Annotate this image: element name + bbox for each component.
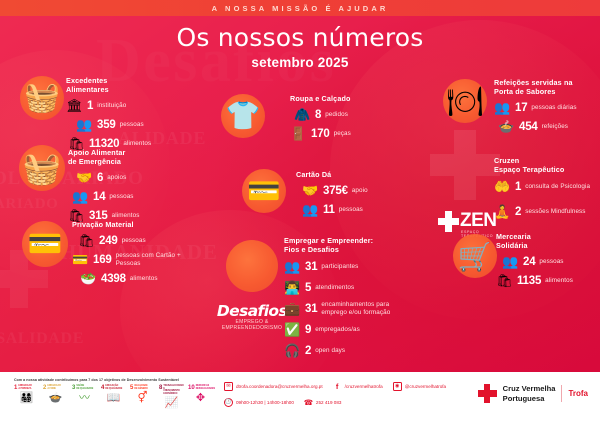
stat-value: 31 <box>305 261 317 273</box>
stat-unit: peças <box>334 130 351 138</box>
stat-row: 👥 24 pessoas <box>496 253 600 270</box>
grocery-bag-heart-icon: 🛒 <box>458 243 493 271</box>
stat-value: 375€ <box>323 185 348 197</box>
stat-unit: pedidos <box>325 111 348 119</box>
participants-icon: 👥 <box>284 258 301 275</box>
hanger-icon: 🧥 <box>294 106 311 123</box>
stat-value: 1 <box>87 100 93 112</box>
clothing-icon: 👕 <box>226 102 261 130</box>
block-title: Mercearia Solidária <box>496 232 600 250</box>
sdg-pictogram-icon: ⚥ <box>130 392 155 405</box>
stat-row: 🏛 1 instituição <box>66 97 190 114</box>
desafios-logo: Desafios EMPREGO & EMPREENDEDORISMO <box>216 302 288 331</box>
fruit-basket-icon: 🧺 <box>23 153 62 184</box>
stat-value: 24 <box>523 256 535 268</box>
headset-icon: 🎧 <box>284 342 301 359</box>
stat-row: 🤝 6 apoios <box>68 169 192 186</box>
stat-value: 31 <box>305 303 317 315</box>
credit-card-icon: 💳 <box>72 251 89 268</box>
desafios-art <box>222 238 282 294</box>
sdg-pictogram-icon: 📖 <box>101 392 126 405</box>
contact-instagram[interactable]: ◉ @cruzvermelhatrofa <box>393 382 446 391</box>
sdg-name: TRABALHO DIGNO E CRESCIMENTO ECONÓMICO <box>163 385 184 396</box>
stat-unit: participantes <box>321 263 358 271</box>
instagram-text: @cruzvermelhatrofa <box>405 384 446 389</box>
desafios-logo-text: Desafios <box>216 302 288 320</box>
stat-unit: alimentos <box>130 275 158 283</box>
sdg-item: 2 ERRADICAR A FOME 🍲 <box>43 385 68 410</box>
sdg-name: REDUZIR AS DESIGUALDADES <box>196 385 215 390</box>
contact-line-primary: ✉ dtrofa.coordenadora@cruzvermelha.org.p… <box>224 382 446 391</box>
block-mercearia-solidaria: Mercearia Solidária 👥 24 pessoas 🛍 1135 … <box>496 232 600 289</box>
block-excedentes-alimentares: Excedentes Alimentares 🏛 1 instituição 👥… <box>66 76 190 152</box>
mission-strip: A NOSSA MISSÃO É AJUDAR <box>0 0 600 16</box>
roupa-calcado-art: 👕 <box>216 90 270 142</box>
sdg-item: 5 IGUALDADE DE GÉNERO ⚥ <box>130 385 155 410</box>
stat-unit: pessoas com Cartão + Pessoas <box>116 252 202 267</box>
stat-unit: apoios <box>107 174 126 182</box>
desafios-logo-subtext: EMPREGO & EMPREENDEDORISMO <box>216 319 288 331</box>
sdg-pictogram-icon: 📈 <box>159 397 184 410</box>
meditation-icon: 🧘 <box>494 203 511 220</box>
mission-tagline: A NOSSA MISSÃO É AJUDAR <box>212 4 389 13</box>
stat-value: 2 <box>305 345 311 357</box>
stat-row: 💳 169 pessoas com Cartão + Pessoas <box>72 251 202 268</box>
stat-value: 2 <box>515 206 521 218</box>
stat-value: 359 <box>97 119 116 131</box>
block-privacao-material: Privação Material 🛍 249 pessoas 💳 169 pe… <box>72 220 202 287</box>
stat-row: 👥 31 participantes <box>284 258 410 275</box>
people-icon: 👥 <box>302 201 319 218</box>
sdg-number: 5 <box>130 385 133 391</box>
instagram-icon: ◉ <box>393 382 402 391</box>
organization-city: Trofa <box>568 389 588 398</box>
block-cruzen-espaco-terapeutico: Cruzen Espaço Terapêutico 🤲 1 consulta d… <box>494 156 598 220</box>
sdg-number: 3 <box>72 385 75 391</box>
stat-value: 8 <box>315 109 321 121</box>
email-text: dtrofa.coordenadora@cruzvermelha.org.pt <box>236 384 323 389</box>
sdg-number: 2 <box>43 385 46 391</box>
sdg-number: 1 <box>14 385 17 391</box>
support-icon: 🤝 <box>302 182 319 199</box>
sdg-item: 10 REDUZIR AS DESIGUALDADES ✥ <box>188 385 213 410</box>
red-cross-icon <box>438 211 459 232</box>
support-icon: 🤝 <box>76 169 93 186</box>
plate-cutlery-icon: 🍽 <box>447 88 484 117</box>
refeicoes-art: 🍽 <box>438 76 492 128</box>
sdg-name: SAÚDE DE QUALIDADE <box>76 385 93 390</box>
stat-row: 🛍 249 pessoas <box>72 232 202 249</box>
clock-icon: 🕐 <box>224 398 233 407</box>
stat-value: 1 <box>515 181 521 193</box>
stat-unit: encaminhamentos para emprego e/ou formaç… <box>321 301 390 316</box>
stat-row: 💼 31 encaminhamentos para emprego e/ou f… <box>284 300 410 317</box>
sdg-name: ERRADICAR A FOME <box>47 385 60 390</box>
stat-value: 454 <box>519 121 538 133</box>
stat-unit: alimentos <box>112 212 140 220</box>
briefcase-icon: 💼 <box>284 300 301 317</box>
stat-value: 6 <box>97 172 103 184</box>
block-roupa-e-calcado: Roupa e Calçado 🧥 8 pedidos 🚪 170 peças <box>290 94 400 142</box>
stat-unit: pessoas <box>339 206 363 214</box>
sdg-pictogram-icon: 〰 <box>72 392 97 405</box>
sdg-name: EDUCAÇÃO DE QUALIDADE <box>105 385 122 390</box>
stat-unit: atendimentos <box>315 284 354 292</box>
page-title: Os nossos números <box>0 23 600 52</box>
sdg-number: 8 <box>159 385 162 391</box>
stat-unit: pessoas <box>120 121 144 129</box>
stat-value: 4398 <box>101 273 126 285</box>
organization-name: Cruz Vermelha Portuguesa <box>503 384 556 402</box>
sdg-pictogram-icon: ✥ <box>188 392 213 405</box>
sdg-caption: Com a nossa atividade contribuímos para … <box>14 378 229 382</box>
sdg-pictogram-icon: 👨‍👩‍👧‍👦 <box>14 392 39 405</box>
block-title: Roupa e Calçado <box>290 94 400 103</box>
organization-name-line1: Cruz Vermelha <box>503 384 556 393</box>
stat-row: 👨‍💻 5 atendimentos <box>284 279 410 296</box>
stat-row: 🧥 8 pedidos <box>290 106 400 123</box>
stat-row: 🤲 1 consulta de Psicologia <box>494 178 598 195</box>
sdg-name: ERRADICAR A POBREZA <box>18 385 31 390</box>
sdg-name: IGUALDADE DE GÉNERO <box>134 385 147 390</box>
footer: Com a nossa atividade contribuímos para … <box>0 372 600 424</box>
hours-text: 09h00-12h30 | 14h00-18h00 <box>236 400 294 405</box>
contact-facebook[interactable]: f /cruzvermelhatrofa <box>333 382 383 391</box>
zen-logo-text: ZEN <box>460 210 497 232</box>
stat-row: 🧘 2 sessões Mindfulness <box>494 203 598 220</box>
sdg-number: 4 <box>101 385 104 391</box>
stat-row: 👥 14 pessoas <box>68 188 192 205</box>
stat-row: 👥 11 pessoas <box>296 201 400 218</box>
stat-row: 🎧 2 open days <box>284 342 410 359</box>
stat-unit: pessoas diárias <box>531 104 576 112</box>
stat-unit: apoio <box>352 187 368 195</box>
sdg-item: 8 TRABALHO DIGNO E CRESCIMENTO ECONÓMICO… <box>159 385 184 410</box>
infographic-page: HUMANIDADE VOLUNTARIADO ALIDADE RSALIDAD… <box>0 0 600 424</box>
sdg-item: 1 ERRADICAR A POBREZA 👨‍👩‍👧‍👦 <box>14 385 39 410</box>
stat-value: 170 <box>311 128 330 140</box>
organization-logo: Cruz Vermelha Portuguesa Trofa <box>478 384 588 403</box>
food-bag-icon: 🛍 <box>78 232 95 249</box>
red-cross-icon <box>478 384 497 403</box>
stat-row: 🛍 1135 alimentos <box>496 272 600 289</box>
stat-value: 14 <box>93 191 105 203</box>
sdg-item: 3 SAÚDE DE QUALIDADE 〰 <box>72 385 97 410</box>
cartao-da-art: 💳 <box>236 166 292 216</box>
stat-value: 249 <box>99 235 118 247</box>
block-refeicoes-porta-de-sabores: Refeições servidas na Porta de Sabores 👥… <box>494 78 598 135</box>
groceries-icon: 🥗 <box>80 270 97 287</box>
stat-row: 🚪 170 peças <box>290 125 400 142</box>
contact-phone[interactable]: ☎ 252 419 083 <box>304 398 342 407</box>
stat-value: 5 <box>305 282 311 294</box>
stat-unit: refeições <box>542 123 568 131</box>
stat-unit: alimentos <box>545 277 573 285</box>
food-bag-icon: 🛍 <box>496 272 513 289</box>
food-basket-icon: 🧺 <box>24 84 60 113</box>
stat-unit: instituição <box>97 102 126 110</box>
stat-row: 🥗 4398 alimentos <box>72 270 202 287</box>
people-icon: 👥 <box>502 253 519 270</box>
contact-hours: 🕐 09h00-12h30 | 14h00-18h00 <box>224 398 294 407</box>
stat-row: 👥 359 pessoas <box>66 116 190 133</box>
sdg-list: 1 ERRADICAR A POBREZA 👨‍👩‍👧‍👦 2 ERRADICA… <box>14 385 229 410</box>
caring-hands-icon: 🤲 <box>494 178 511 195</box>
stat-unit: pessoas <box>122 237 146 245</box>
stat-value: 11 <box>323 204 335 216</box>
stat-unit: pessoas <box>109 193 133 201</box>
mercearia-art: 🛒 <box>448 230 502 284</box>
excedentes-alimentares-art: 🧺 <box>18 74 66 122</box>
stat-unit: pessoas <box>539 258 563 266</box>
stat-row: 🍲 454 refeições <box>494 118 598 135</box>
apoio-alimentar-art: 🧺 <box>16 142 68 194</box>
meeting-icon: 👨‍💻 <box>284 279 301 296</box>
contact-email[interactable]: ✉ dtrofa.coordenadora@cruzvermelha.org.p… <box>224 382 323 391</box>
block-title: Cruzen Espaço Terapêutico <box>494 156 598 174</box>
block-title: Privação Material <box>72 220 202 229</box>
stat-unit: sessões Mindfulness <box>525 208 585 216</box>
contact-line-secondary: 🕐 09h00-12h30 | 14h00-18h00 ☎ 252 419 08… <box>224 398 446 407</box>
soup-icon: 🍲 <box>498 118 515 135</box>
block-empregar-e-empreender: Empregar e Empreender: Fios e Desafios 👥… <box>284 236 410 359</box>
stat-row: ✅ 9 empregados/as <box>284 321 410 338</box>
stat-value: 169 <box>93 254 112 266</box>
stat-value: 9 <box>305 324 311 336</box>
block-title: Cartão Dá <box>296 170 400 179</box>
wardrobe-icon: 🚪 <box>290 125 307 142</box>
page-subtitle: setembro 2025 <box>0 55 600 70</box>
zen-logo: ZEN ESPAÇO TERAPÊUTICO <box>438 210 497 232</box>
stats-body: 🧺 Excedentes Alimentares 🏛 1 instituição… <box>0 70 600 380</box>
people-icon: 👥 <box>72 188 89 205</box>
block-title: Empregar e Empreender: Fios e Desafios <box>284 236 410 254</box>
telephone-icon: ☎ <box>304 398 313 407</box>
sdg-pictogram-icon: 🍲 <box>43 392 68 405</box>
sdg-section: Com a nossa atividade contribuímos para … <box>14 378 229 410</box>
facebook-icon: f <box>333 382 342 391</box>
organization-name-line2: Portuguesa <box>503 394 556 403</box>
contact-section: ✉ dtrofa.coordenadora@cruzvermelha.org.p… <box>224 382 446 414</box>
check-circle-icon: ✅ <box>284 321 301 338</box>
block-title: Refeições servidas na Porta de Sabores <box>494 78 598 96</box>
stat-unit: alimentos <box>123 140 151 148</box>
people-icon: 👥 <box>76 116 93 133</box>
privacao-material-art: 💳 <box>16 218 74 270</box>
phone-text: 252 419 083 <box>316 400 342 405</box>
stat-unit: empregados/as <box>315 326 360 334</box>
stat-row: 👥 17 pessoas diárias <box>494 99 598 116</box>
title-area: Os nossos números setembro 2025 <box>0 16 600 70</box>
institution-icon: 🏛 <box>66 97 83 114</box>
card-and-goods-icon: 💳 <box>28 230 63 258</box>
hand-with-card-icon: 💳 <box>247 178 281 205</box>
stat-value: 1135 <box>517 275 541 287</box>
sdg-number: 10 <box>188 385 195 391</box>
block-apoio-alimentar-emergencia: Apoio Alimentar de Emergência 🤝 6 apoios… <box>68 148 192 224</box>
stat-row: 🤝 375€ apoio <box>296 182 400 199</box>
facebook-text: /cruzvermelhatrofa <box>345 384 383 389</box>
stat-value: 17 <box>515 102 527 114</box>
stat-unit: open days <box>315 347 345 355</box>
sdg-item: 4 EDUCAÇÃO DE QUALIDADE 📖 <box>101 385 126 410</box>
logo-divider <box>561 385 562 402</box>
envelope-icon: ✉ <box>224 382 233 391</box>
people-icon: 👥 <box>494 99 511 116</box>
block-title: Apoio Alimentar de Emergência <box>68 148 192 166</box>
block-title: Excedentes Alimentares <box>66 76 190 94</box>
stat-unit: consulta de Psicologia <box>525 183 590 191</box>
block-cartao-da: Cartão Dá 🤝 375€ apoio 👥 11 pessoas <box>296 170 400 218</box>
